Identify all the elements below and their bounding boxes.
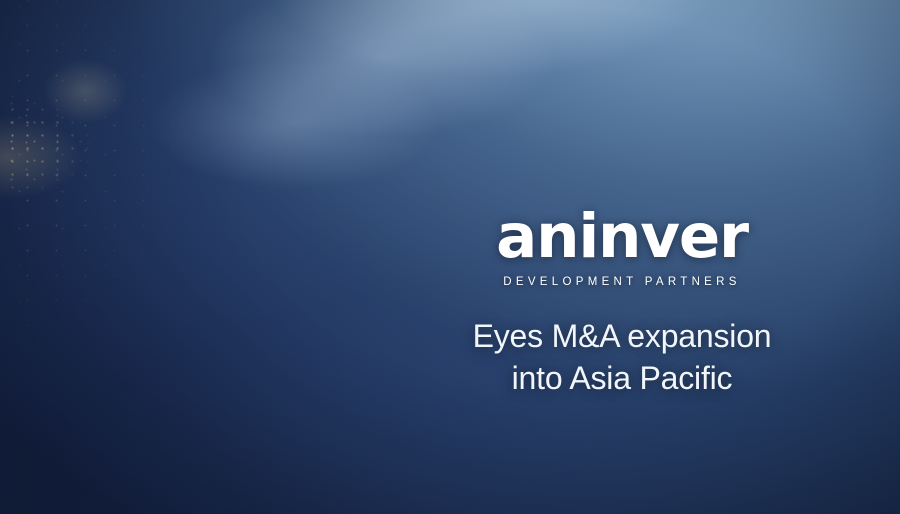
headline-line-1: Eyes M&A expansion [412,316,832,358]
text-block: aninver DEVELOPMENT PARTNERS Eyes M&A ex… [412,206,832,399]
promo-banner: aninver DEVELOPMENT PARTNERS Eyes M&A ex… [0,0,900,514]
headline: Eyes M&A expansion into Asia Pacific [412,316,832,399]
headline-line-2: into Asia Pacific [412,358,832,400]
brand-tagline: DEVELOPMENT PARTNERS [412,276,832,288]
brand-logo-wordmark: aninver [412,206,832,267]
